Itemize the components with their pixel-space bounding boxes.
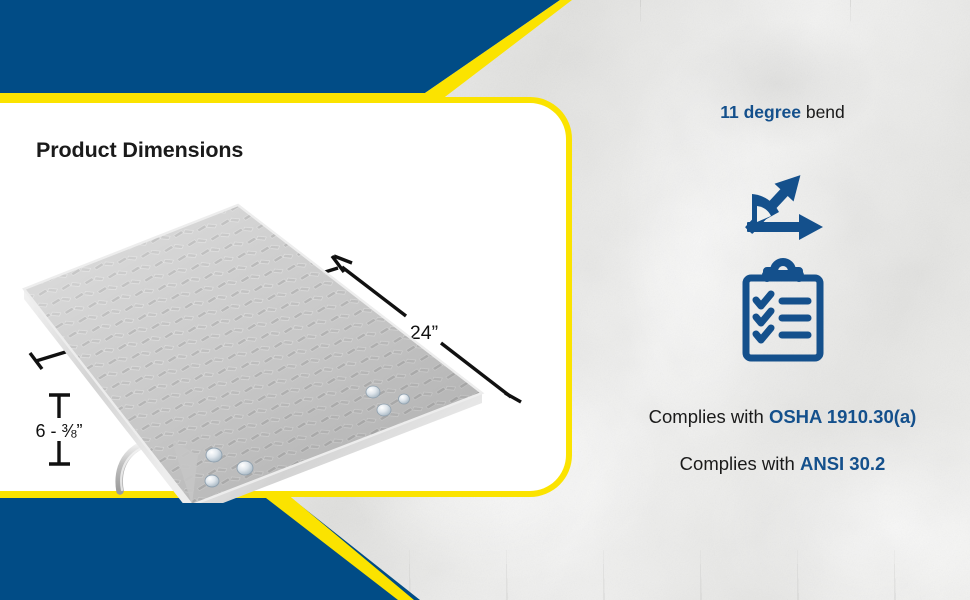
compliance-prefix-osha: Complies with — [649, 406, 769, 427]
dock-plate-product — [6, 193, 506, 503]
product-dimensions-card: Product Dimensions — [0, 97, 572, 497]
bend-caption: 11 degree bend — [595, 102, 970, 123]
clipboard-checklist-icon — [734, 258, 832, 364]
compliance-line-osha: Complies with OSHA 1910.30(a) — [595, 406, 970, 428]
infographic-canvas: Product Dimensions — [0, 0, 970, 600]
plate-top-surface — [6, 193, 506, 503]
clipboard-icon-container — [595, 258, 970, 369]
dimension-label-height: 6 - ⅜” — [35, 421, 82, 441]
bend-rest-text: bend — [801, 102, 845, 122]
compliance-line-ansi: Complies with ANSI 30.2 — [595, 453, 970, 475]
angle-icon-container — [595, 150, 970, 247]
product-dimensions-diagram: 36” 30” 24” 6 - ⅜” — [0, 103, 572, 503]
angle-arrows-icon — [733, 150, 833, 242]
compliance-standard-ansi: ANSI 30.2 — [800, 453, 885, 474]
compliance-standard-osha: OSHA 1910.30(a) — [769, 406, 916, 427]
bend-accent-text: 11 degree — [720, 102, 801, 122]
compliance-prefix-ansi: Complies with — [680, 453, 800, 474]
spec-column: 11 degree bend — [595, 0, 970, 600]
